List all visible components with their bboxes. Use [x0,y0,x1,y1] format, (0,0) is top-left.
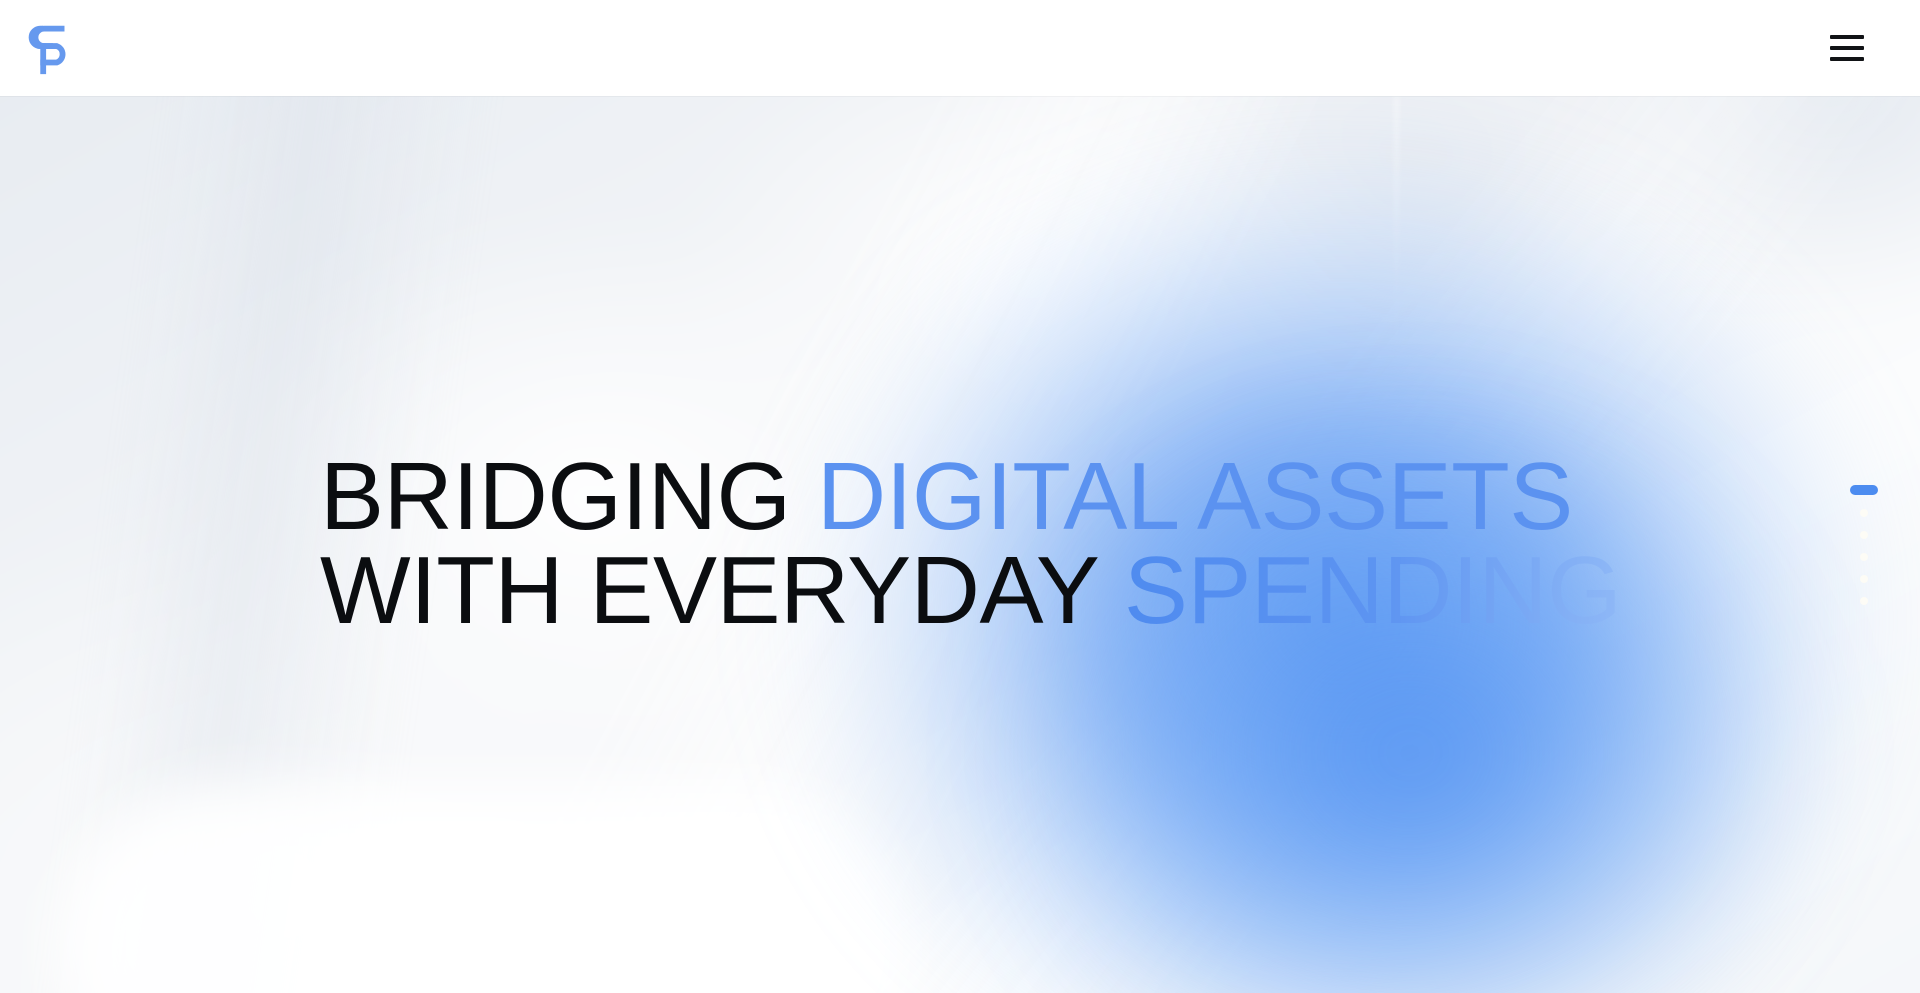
hero-background-card [55,783,915,993]
hero-headline-line-2: WITH EVERYDAY SPENDING [320,544,1621,638]
hero-headline-line-1-accent: DIGITAL ASSETS [817,443,1573,550]
brand-logo-icon [26,18,72,78]
hero-headline: BRIDGING DIGITAL ASSETS WITH EVERYDAY SP… [320,450,1621,638]
section-dot-6[interactable] [1860,597,1868,605]
section-dot-1[interactable] [1850,485,1878,495]
hero-headline-line-2-accent: SPENDING [1124,537,1621,644]
hamburger-bar-bottom [1830,57,1864,61]
page-root: BRIDGING DIGITAL ASSETS WITH EVERYDAY SP… [0,0,1920,993]
site-header [0,0,1920,96]
brand-logo-link[interactable] [26,18,72,78]
section-dot-5[interactable] [1860,575,1868,583]
section-dot-2[interactable] [1860,509,1868,517]
hamburger-menu-button[interactable] [1820,21,1874,75]
section-dot-3[interactable] [1860,531,1868,539]
section-dot-4[interactable] [1860,553,1868,561]
hero-headline-line-1: BRIDGING DIGITAL ASSETS [320,450,1621,544]
section-pagination [1850,485,1878,605]
hero-section: BRIDGING DIGITAL ASSETS WITH EVERYDAY SP… [0,96,1920,993]
hamburger-bar-middle [1830,46,1864,50]
hamburger-bar-top [1830,35,1864,39]
hero-headline-line-1-plain: BRIDGING [320,443,817,550]
hero-headline-line-2-plain: WITH EVERYDAY [320,537,1124,644]
